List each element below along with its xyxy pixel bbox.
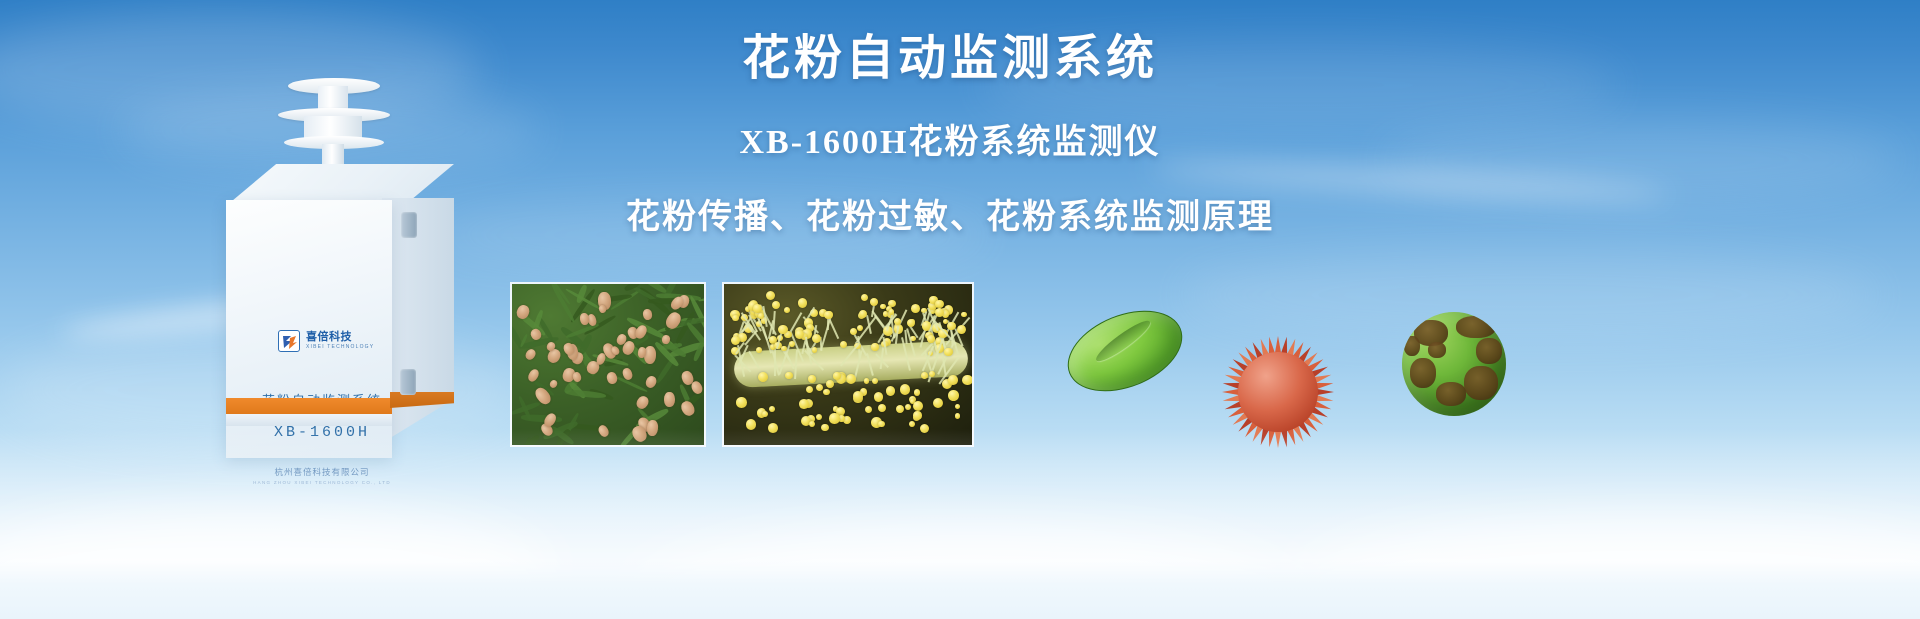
catkin-anther — [961, 312, 966, 317]
catkin-anther — [753, 304, 762, 313]
catkin-anther — [865, 406, 872, 413]
green-pollen-grain — [1056, 295, 1194, 407]
willow-catkin-photo — [722, 282, 974, 447]
catkin-anther — [962, 375, 973, 386]
banner-tagline: 花粉传播、花粉过敏、花粉系统监测原理 — [600, 189, 1300, 238]
brand-name-cn: 喜倍科技 — [306, 332, 374, 344]
grain-patch — [1456, 316, 1496, 338]
catkin-anther — [808, 375, 816, 383]
catkin-anther — [736, 397, 747, 408]
catkin-anther — [853, 391, 863, 401]
cypress-cones-photo — [510, 282, 706, 447]
grain-patch — [1476, 338, 1502, 364]
catkin-anther — [921, 372, 928, 379]
device-company-en: HANG ZHOU XIBEI TECHNOLOGY CO., LTD — [226, 480, 418, 485]
cabinet-base-strip — [226, 398, 392, 414]
grain-patch — [1464, 366, 1498, 400]
catkin-anther — [795, 330, 804, 339]
catkin-anther — [833, 372, 840, 379]
catkin-anther — [883, 311, 888, 316]
ground-strip — [0, 561, 1920, 619]
cloud-shape — [1180, 250, 1880, 340]
grain-patch — [1436, 382, 1466, 406]
brand-text: 喜倍科技 XIBEI TECHNOLOGY — [306, 332, 374, 351]
catkin-anther — [909, 421, 915, 427]
grain-body — [1402, 312, 1506, 416]
catkin-anther — [812, 347, 818, 353]
catkin-anther — [799, 399, 809, 409]
brand-name-en: XIBEI TECHNOLOGY — [306, 345, 374, 350]
catkin-anther — [886, 386, 895, 395]
catkin-anther — [871, 343, 878, 350]
page-title: 花粉自动监测系统 — [600, 30, 1300, 88]
catkin-anther — [878, 421, 884, 427]
catkin-anther — [785, 372, 792, 379]
device-company-cn: 杭州喜倍科技有限公司 — [226, 466, 418, 478]
catkin-anther — [864, 378, 870, 384]
catkin-anther — [821, 424, 829, 432]
catkin-anther — [798, 298, 808, 308]
grain-patch — [1410, 358, 1436, 388]
inlet-stack-pipe — [322, 144, 344, 166]
xibei-logo-icon — [278, 330, 300, 352]
catkin-anther — [778, 325, 788, 335]
pollen-cone — [664, 392, 675, 407]
catkin-anther — [913, 411, 921, 419]
banner-headings: 花粉自动监测系统 XB-1600H花粉系统监测仪 花粉传播、花粉过敏、花粉系统监… — [600, 30, 1300, 238]
catkin-anther — [914, 389, 920, 395]
spiky-pollen-grain — [1222, 336, 1334, 448]
banner-subtitle: XB-1600H花粉系统监测仪 — [600, 114, 1300, 163]
catkin-anther — [824, 311, 833, 320]
catkin-anther — [927, 335, 935, 343]
spherical-pollen-grain — [1402, 312, 1506, 416]
catkin-anther — [948, 375, 958, 385]
cabinet-foot — [226, 414, 392, 426]
catkin-anther — [768, 423, 778, 433]
instrument-device: 喜倍科技 XIBEI TECHNOLOGY 花粉自动监测系统 XB-1600H … — [200, 78, 480, 428]
catkin-anther — [929, 371, 935, 377]
catkin-anther — [913, 401, 923, 411]
catkin-anther — [880, 304, 885, 309]
grain-core — [1238, 352, 1318, 432]
pollen-cone — [646, 419, 658, 436]
device-model: XB-1600H — [226, 424, 418, 441]
catkin-anther — [920, 424, 929, 433]
catkin-anther — [944, 348, 953, 357]
brand-lockup: 喜倍科技 XIBEI TECHNOLOGY — [278, 330, 374, 352]
catkin-anther — [766, 291, 775, 300]
catkin-anther — [957, 325, 966, 334]
cabinet-handle-icon[interactable] — [401, 212, 417, 238]
catkin-anther — [894, 318, 901, 325]
catkin-anther — [870, 298, 878, 306]
catkin-anther — [781, 346, 786, 351]
catkin-anther — [907, 319, 915, 327]
pollen-monitoring-banner: 花粉自动监测系统 XB-1600H花粉系统监测仪 花粉传播、花粉过敏、花粉系统监… — [0, 0, 1920, 619]
grain-furrow — [1092, 316, 1154, 366]
catkin-filament — [774, 345, 776, 376]
catkin-anther — [789, 341, 795, 347]
catkin-anther — [784, 307, 790, 313]
catkin-anther — [955, 413, 960, 418]
grain-patch — [1404, 336, 1420, 356]
grain-body — [1056, 295, 1194, 407]
catkin-anther — [816, 414, 822, 420]
catkin-anther — [762, 411, 768, 417]
catkin-anther — [935, 308, 944, 317]
catkin-anther — [746, 419, 756, 429]
catkin-anther — [872, 378, 878, 384]
grain-patch — [1428, 342, 1446, 358]
cabinet-handle-icon[interactable] — [400, 369, 416, 395]
catkin-anther — [829, 413, 839, 423]
